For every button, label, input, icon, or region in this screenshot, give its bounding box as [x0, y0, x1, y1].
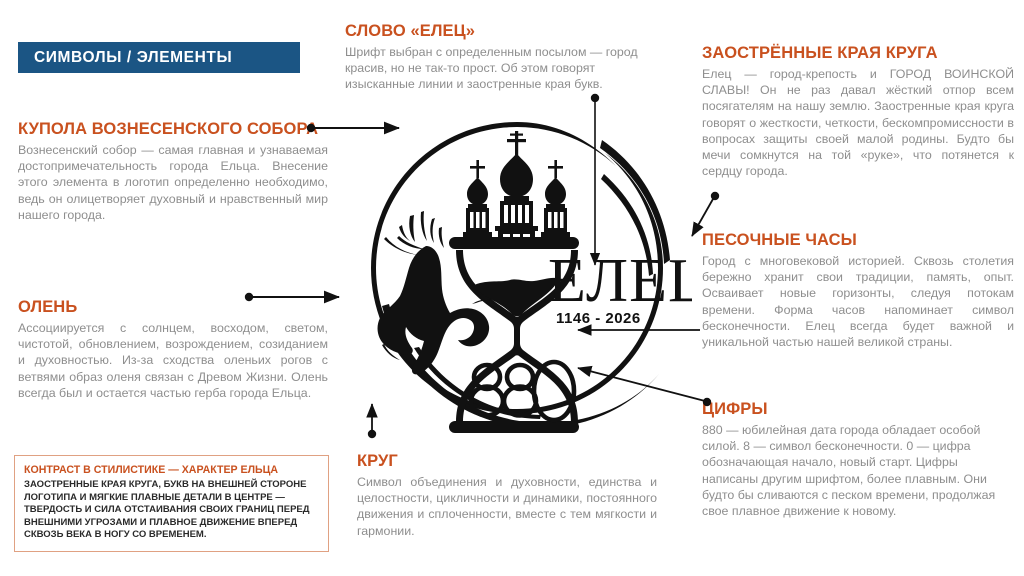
block-body: Город с многовековой историей. Сквозь ст…	[702, 253, 1014, 350]
arrow-kraya	[692, 192, 719, 236]
block-body: Символ объединения и духовности, единств…	[357, 474, 657, 539]
block-kupola-vozneseskogo-sobora: КУПОЛА ВОЗНЕСЕНСКОГО СОБОРА Вознесенский…	[18, 120, 328, 223]
block-slovo-elets: СЛОВО «ЕЛЕЦ» Шрифт выбран с определенным…	[345, 22, 663, 93]
block-zaostrennye-kraya-kruga: ЗАОСТРЁННЫЕ КРАЯ КРУГА Елец — город-креп…	[702, 44, 1014, 179]
callout-kontrast-v-stilistike: КОНТРАСТ В СТИЛИСТИКЕ — ХАРАКТЕР ЕЛЬЦА З…	[14, 455, 329, 552]
logo-wordmark-group: ЕЛЕЦ 1146 - 2026	[548, 247, 692, 327]
callout-title: КОНТРАСТ В СТИЛИСТИКЕ — ХАРАКТЕР ЕЛЬЦА	[24, 464, 319, 477]
block-body: Вознесенский собор — самая главная и узн…	[18, 142, 328, 223]
infographic-page: СИМВОЛЫ / ЭЛЕМЕНТЫ КУПОЛА ВОЗНЕСЕНСКОГО …	[0, 0, 1024, 576]
block-olen: ОЛЕНЬ Ассоциируется с солнцем, восходом,…	[18, 298, 328, 401]
block-title: ЦИФРЫ	[702, 400, 1014, 419]
block-pesochnye-chasy: ПЕСОЧНЫЕ ЧАСЫ Город с многовековой истор…	[702, 231, 1014, 350]
block-body: 880 — юбилейная дата города обладает осо…	[702, 422, 1014, 519]
block-body: Ассоциируется с солнцем, восходом, свето…	[18, 320, 328, 401]
block-krug: КРУГ Символ объединения и духовности, ед…	[357, 452, 657, 539]
svg-text:ЕЛЕЦ: ЕЛЕЦ	[548, 247, 692, 315]
block-cifry: ЦИФРЫ 880 — юбилейная дата города облада…	[702, 400, 1014, 519]
elets-logo: ЕЛЕЦ 1146 - 2026	[352, 108, 692, 456]
callout-body: ЗАОСТРЕННЫЕ КРАЯ КРУГА, БУКВ НА ВНЕШНЕЙ …	[24, 479, 319, 542]
block-title: ОЛЕНЬ	[18, 298, 328, 317]
block-title: СЛОВО «ЕЛЕЦ»	[345, 22, 663, 41]
block-title: ПЕСОЧНЫЕ ЧАСЫ	[702, 231, 1014, 250]
block-title: КУПОЛА ВОЗНЕСЕНСКОГО СОБОРА	[18, 120, 328, 139]
block-body: Шрифт выбран с определенным посылом — го…	[345, 44, 663, 93]
block-body: Елец — город-крепость и ГОРОД ВОИНСКОЙ С…	[702, 66, 1014, 179]
block-title: ЗАОСТРЁННЫЕ КРАЯ КРУГА	[702, 44, 1014, 63]
svg-text:1146 - 2026: 1146 - 2026	[556, 310, 641, 327]
section-badge: СИМВОЛЫ / ЭЛЕМЕНТЫ	[18, 42, 300, 73]
